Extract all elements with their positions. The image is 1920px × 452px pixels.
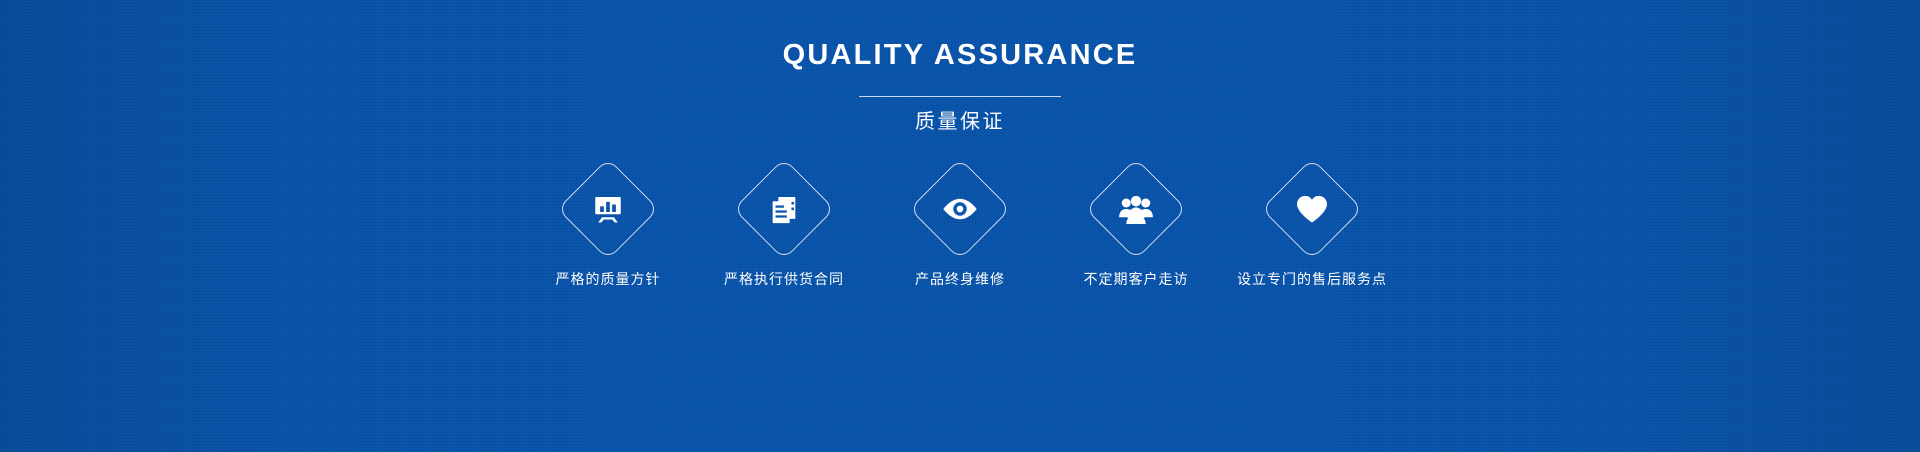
feature-item-quality-policy[interactable]: 严格的质量方针 [520, 173, 696, 286]
quality-assurance-banner: QUALITY ASSURANCE 质量保证 [0, 0, 1920, 452]
feature-icon-frame [909, 158, 1011, 260]
banner-heading: QUALITY ASSURANCE 质量保证 [783, 41, 1138, 132]
feature-icon-frame [1261, 158, 1363, 260]
presentation-chart-icon [585, 186, 631, 232]
feature-item-lifetime-service[interactable]: 产品终身维修 [872, 173, 1048, 286]
page-subtitle: 质量保证 [915, 112, 1005, 132]
heart-icon [1289, 186, 1335, 232]
page-title: QUALITY ASSURANCE [783, 41, 1138, 70]
feature-item-after-sales-points[interactable]: 设立专门的售后服务点 [1224, 173, 1400, 286]
feature-icon-frame [1085, 158, 1187, 260]
feature-caption: 不定期客户走访 [1084, 272, 1189, 286]
feature-list: 严格的质量方针 [520, 173, 1400, 286]
feature-item-supply-contract[interactable]: 严格执行供货合同 [696, 173, 872, 286]
feature-caption: 产品终身维修 [915, 272, 1005, 286]
feature-item-customer-visits[interactable]: 不定期客户走访 [1048, 173, 1224, 286]
users-group-icon [1113, 186, 1159, 232]
documents-icon [761, 186, 807, 232]
banner-content: QUALITY ASSURANCE 质量保证 [0, 0, 1920, 452]
feature-icon-frame [557, 158, 659, 260]
feature-icon-frame [733, 158, 835, 260]
title-divider [859, 96, 1061, 97]
feature-caption: 设立专门的售后服务点 [1237, 272, 1387, 286]
feature-caption: 严格的质量方针 [556, 272, 661, 286]
feature-caption: 严格执行供货合同 [724, 272, 844, 286]
eye-icon [937, 186, 983, 232]
